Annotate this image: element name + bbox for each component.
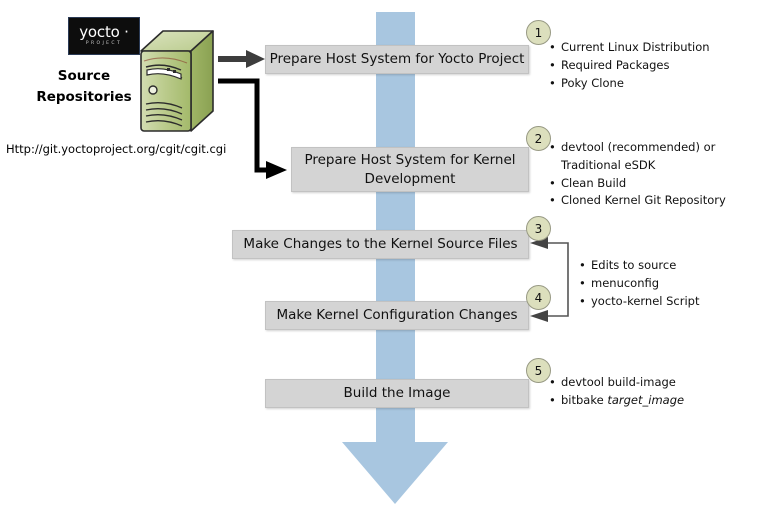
connector-source-to-step2 — [218, 81, 287, 179]
step-box-3[interactable]: Make Changes to the Kernel Source Files — [232, 230, 529, 259]
step-box-4-label: Make Kernel Configuration Changes — [276, 306, 517, 324]
step-badge-4: 4 — [526, 285, 551, 310]
step-notes-1: Current Linux Distribution Required Pack… — [548, 39, 762, 92]
note-item: bitbake target_image — [561, 392, 762, 410]
flow-arrowhead-icon — [342, 442, 448, 504]
connector-source-to-step1 — [218, 50, 265, 68]
step-box-2-label-line2: Development — [365, 171, 456, 187]
step-badge-3-label: 3 — [535, 222, 543, 236]
note-item: devtool (recommended) or Traditional eSD… — [561, 139, 762, 175]
step-badge-5-label: 5 — [535, 364, 543, 378]
step-badge-2-label: 2 — [535, 132, 543, 146]
yocto-project-logo: yocto · PROJECT — [68, 17, 140, 55]
step-box-3-label: Make Changes to the Kernel Source Files — [243, 235, 517, 253]
note-item-italic-arg: target_image — [607, 393, 684, 407]
step-badge-4-label: 4 — [535, 291, 543, 305]
note-item: Poky Clone — [561, 75, 762, 93]
step-notes-3-and-4: Edits to source menuconfig yocto-kernel … — [578, 257, 764, 310]
step-box-5-label: Build the Image — [344, 384, 451, 402]
note-item: Edits to source — [591, 257, 764, 275]
source-repositories-label: Source Repositories — [26, 66, 142, 108]
note-item: Clean Build — [561, 175, 762, 193]
note-item: menuconfig — [591, 275, 764, 293]
step-box-5[interactable]: Build the Image — [265, 379, 529, 408]
step-box-4[interactable]: Make Kernel Configuration Changes — [265, 301, 529, 330]
step-box-2-label: Prepare Host System for Kernel Developme… — [304, 151, 515, 187]
server-tower-icon — [137, 29, 217, 135]
yocto-logo-subtitle: PROJECT — [86, 42, 122, 47]
step-box-1[interactable]: Prepare Host System for Yocto Project — [265, 45, 529, 74]
note-item: Required Packages — [561, 57, 762, 75]
step-box-2-label-line1: Prepare Host System for Kernel — [304, 152, 515, 168]
diagram-canvas: yocto · PROJECT Source Repositories Http… — [0, 0, 769, 517]
step-badge-3: 3 — [526, 216, 551, 241]
note-item: Current Linux Distribution — [561, 39, 762, 57]
step-notes-2: devtool (recommended) or Traditional eSD… — [548, 139, 762, 210]
source-repositories-url: Http://git.yoctoproject.org/cgit/cgit.cg… — [6, 142, 226, 156]
source-repositories-label-line2: Repositories — [26, 87, 142, 108]
note-item: yocto-kernel Script — [591, 293, 764, 311]
note-item-text: bitbake — [561, 393, 607, 407]
step-box-2[interactable]: Prepare Host System for Kernel Developme… — [291, 147, 529, 192]
step-notes-5: devtool build-image bitbake target_image — [548, 374, 762, 410]
step-badge-1-label: 1 — [535, 26, 543, 40]
yocto-logo-wordmark: yocto · — [79, 25, 129, 40]
note-item: devtool build-image — [561, 374, 762, 392]
step-box-1-label: Prepare Host System for Yocto Project — [270, 50, 525, 68]
source-repositories-label-line1: Source — [26, 66, 142, 87]
note-item: Cloned Kernel Git Repository — [561, 192, 762, 210]
